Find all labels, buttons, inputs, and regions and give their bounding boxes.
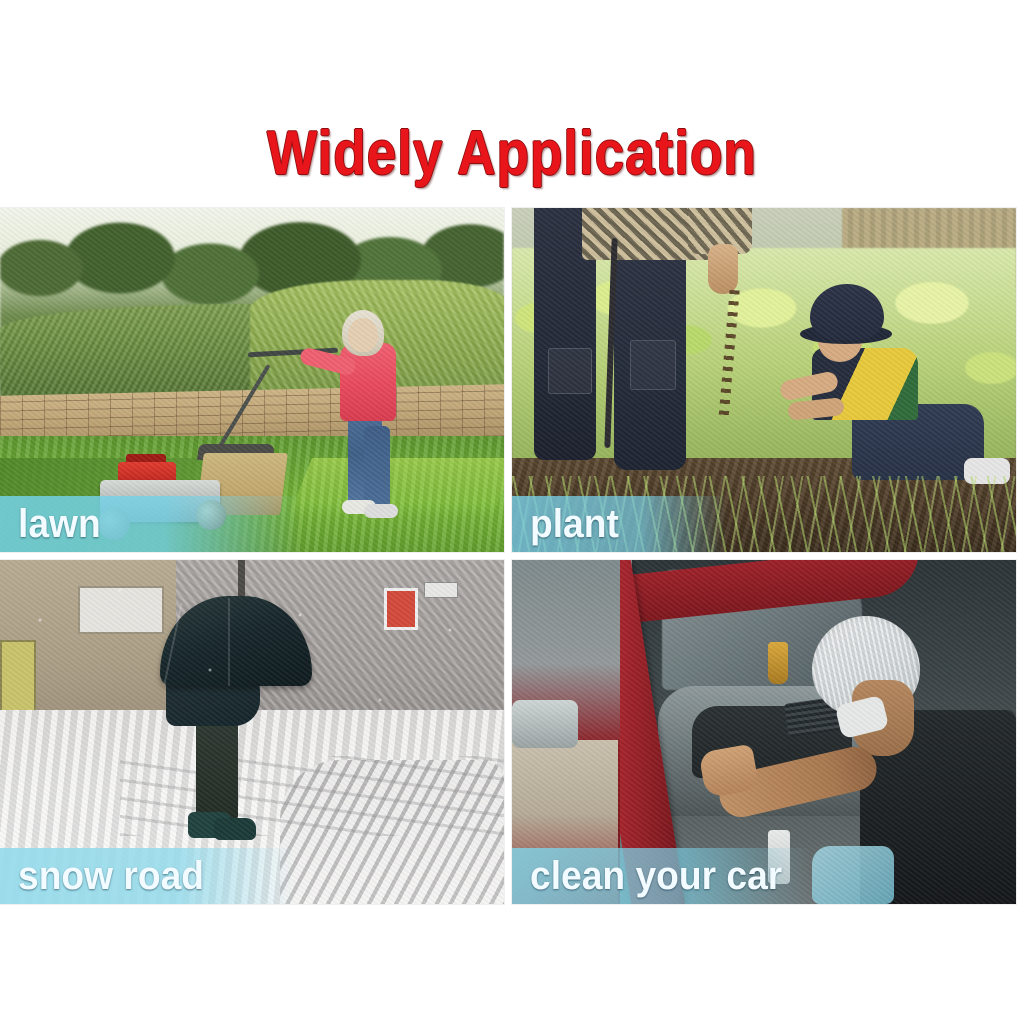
panel-clean-your-car[interactable]: clean your car (512, 560, 1016, 904)
plant-photo (512, 208, 1016, 552)
panel-snow-road[interactable]: snow road (0, 560, 504, 904)
lawn-photo (0, 208, 504, 552)
page-title: Widely Application (267, 118, 757, 189)
snow-road-photo (0, 560, 504, 904)
clean-your-car-photo (512, 560, 1016, 904)
panel-lawn[interactable]: lawn (0, 208, 504, 552)
panel-plant[interactable]: plant (512, 208, 1016, 552)
page-header: Widely Application (0, 108, 1024, 198)
application-image-grid: lawn (0, 208, 1024, 904)
